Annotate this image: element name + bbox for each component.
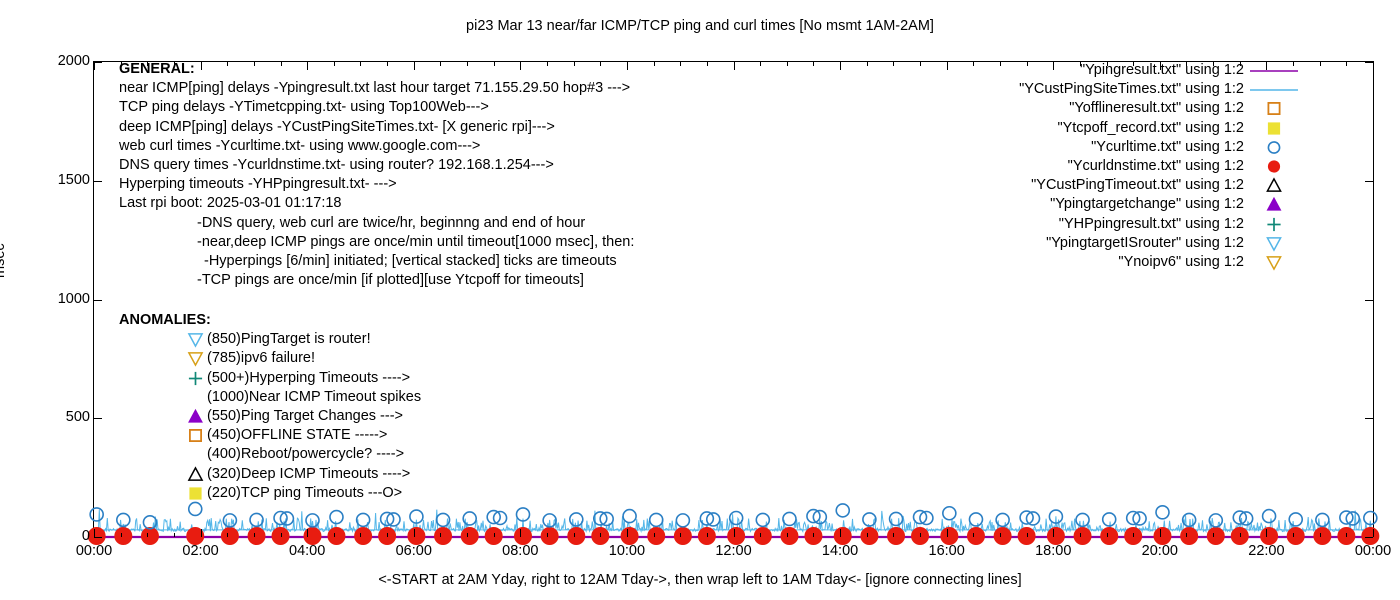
data-point-dns — [1101, 528, 1118, 545]
y-tick — [1365, 181, 1373, 182]
data-point-dns — [435, 528, 452, 545]
y-tick — [94, 62, 102, 63]
anomaly-filled-square-icon — [187, 485, 204, 502]
data-point-dns — [514, 528, 531, 545]
data-point-dns — [1074, 528, 1091, 545]
legend-filled-triangle-up-icon — [1248, 196, 1300, 213]
x-tick — [1373, 529, 1374, 537]
data-point-dns — [1047, 528, 1064, 545]
x-tick — [227, 533, 228, 537]
legend-label: "Ycurldnstime.txt" using 1:2 — [1068, 158, 1244, 174]
x-tick — [707, 533, 708, 537]
anomaly-marker-none — [187, 389, 204, 406]
data-point-curl — [1209, 514, 1222, 527]
anomaly-item: (785)ipv6 failure! — [119, 349, 421, 368]
legend-label: "Ypingresult.txt" using 1:2 — [1080, 62, 1244, 78]
x-tick — [1240, 533, 1241, 537]
data-point-dns — [141, 528, 158, 545]
legend-label: "Ycurltime.txt" using 1:2 — [1091, 139, 1244, 155]
x-tick — [707, 62, 708, 66]
x-tick — [147, 533, 148, 537]
data-point-curl — [943, 507, 956, 520]
x-tick — [1160, 529, 1161, 537]
data-point-dns — [967, 528, 984, 545]
x-tick — [281, 533, 282, 537]
general-indented-line: -DNS query, web curl are twice/hr, begin… — [119, 214, 634, 233]
legend-label: "YHPpingresult.txt" using 1:2 — [1059, 216, 1244, 232]
x-tick-label: 10:00 — [587, 543, 667, 559]
x-tick-label: 18:00 — [1013, 543, 1093, 559]
legend-plus-icon — [1248, 216, 1300, 233]
x-tick — [254, 533, 255, 537]
x-tick — [840, 62, 841, 70]
legend-item: "YCustPingTimeout.txt" using 1:2 — [960, 176, 1300, 195]
legend-label: "Yofflineresult.txt" using 1:2 — [1069, 100, 1244, 116]
general-indented-line: -TCP pings are once/min [if plotted][use… — [119, 271, 634, 290]
data-point-curl — [330, 511, 343, 524]
x-tick — [920, 533, 921, 537]
x-tick — [94, 529, 95, 537]
data-point-curl — [1076, 513, 1089, 526]
legend-label: "YCustPingSiteTimes.txt" using 1:2 — [1019, 81, 1244, 97]
data-point-dns — [674, 528, 691, 545]
x-tick — [307, 529, 308, 537]
x-tick — [387, 533, 388, 537]
data-point-curl — [357, 513, 370, 526]
anomaly-marker-none — [187, 446, 204, 463]
data-point-dns — [1261, 528, 1278, 545]
anomaly-item: (400)Reboot/powercycle? ----> — [119, 445, 421, 464]
x-tick — [1080, 533, 1081, 537]
anomaly-open-triangle-down-icon — [187, 350, 204, 367]
data-point-dns — [728, 528, 745, 545]
general-heading: GENERAL: — [119, 60, 634, 79]
anomaly-item: (450)OFFLINE STATE -----> — [119, 426, 421, 445]
y-tick-label: 1000 — [10, 291, 90, 307]
x-tick — [1346, 533, 1347, 537]
legend-item: "Ypingtargetchange" using 1:2 — [960, 195, 1300, 214]
legend-item: "Ycurldnstime.txt" using 1:2 — [960, 157, 1300, 176]
anomaly-label: (1000)Near ICMP Timeout spikes — [207, 389, 421, 405]
anomaly-item: (500+)Hyperping Timeouts ----> — [119, 369, 421, 388]
legend-open-circle-icon — [1248, 139, 1300, 156]
data-point-curl — [1289, 513, 1302, 526]
anomaly-open-square-icon — [187, 427, 204, 444]
anomaly-plus-icon — [187, 370, 204, 387]
x-tick — [947, 62, 948, 70]
data-point-curl — [783, 512, 796, 525]
legend-item: "YCustPingSiteTimes.txt" using 1:2 — [960, 80, 1300, 99]
anomaly-label: (550)Ping Target Changes ---> — [207, 408, 403, 424]
x-tick-label: 12:00 — [694, 543, 774, 559]
x-tick — [867, 533, 868, 537]
data-point-curl — [570, 513, 583, 526]
x-tick — [813, 533, 814, 537]
x-tick — [440, 533, 441, 537]
x-tick — [973, 533, 974, 537]
data-point-curl — [969, 513, 982, 526]
data-point-curl — [676, 514, 689, 527]
x-tick — [734, 529, 735, 537]
legend-filled-circle-icon — [1248, 158, 1300, 175]
x-tick — [947, 529, 948, 537]
anomaly-item: (320)Deep ICMP Timeouts ----> — [119, 465, 421, 484]
anomaly-label: (500+)Hyperping Timeouts ----> — [207, 370, 410, 386]
x-tick — [920, 62, 921, 66]
legend-item: "Ynoipv6" using 1:2 — [960, 253, 1300, 272]
data-point-dns — [861, 528, 878, 545]
y-tick — [94, 418, 102, 419]
anomaly-open-triangle-down-icon — [187, 331, 204, 348]
data-point-dns — [1287, 528, 1304, 545]
x-tick — [1053, 529, 1054, 537]
x-tick — [1000, 533, 1001, 537]
x-tick — [867, 62, 868, 66]
data-point-dns — [1181, 528, 1198, 545]
anomaly-open-triangle-up-icon — [187, 466, 204, 483]
data-point-dns — [888, 528, 905, 545]
anomalies-heading: ANOMALIES: — [119, 311, 421, 330]
x-tick — [1373, 62, 1374, 70]
general-line: Hyperping timeouts -YHPpingresult.txt- -… — [119, 175, 634, 194]
y-tick-label: 1500 — [10, 172, 90, 188]
x-axis-caption: <-START at 2AM Yday, right to 12AM Tday-… — [0, 572, 1400, 588]
data-point-curl — [756, 513, 769, 526]
data-point-curl — [1316, 513, 1329, 526]
x-tick — [121, 533, 122, 537]
y-tick-label: 500 — [10, 409, 90, 425]
anomaly-label: (320)Deep ICMP Timeouts ----> — [207, 466, 410, 482]
data-point-curl — [1103, 513, 1116, 526]
data-point-dns — [221, 528, 238, 545]
x-tick — [680, 533, 681, 537]
x-tick — [813, 62, 814, 66]
data-point-curl — [250, 513, 263, 526]
data-point-dns — [408, 528, 425, 545]
data-point-curl — [1263, 510, 1276, 523]
anomaly-label: (785)ipv6 failure! — [207, 350, 315, 366]
x-tick — [734, 62, 735, 70]
legend-filled-square-icon — [1248, 120, 1300, 137]
y-tick — [94, 181, 102, 182]
general-line: Last rpi boot: 2025-03-01 01:17:18 — [119, 194, 634, 213]
data-point-curl — [463, 512, 476, 525]
y-tick — [94, 537, 102, 538]
x-tick — [520, 529, 521, 537]
y-tick — [94, 300, 102, 301]
data-point-curl — [836, 504, 849, 517]
general-line: TCP ping delays -YTimetcpping.txt- using… — [119, 98, 634, 117]
x-tick-label: 08:00 — [480, 543, 560, 559]
legend-item: "Yofflineresult.txt" using 1:2 — [960, 99, 1300, 118]
legend-item: "Ypingresult.txt" using 1:2 — [960, 61, 1300, 80]
data-point-dns — [781, 528, 798, 545]
x-tick — [654, 533, 655, 537]
data-point-curl — [996, 513, 1009, 526]
x-tick — [760, 533, 761, 537]
legend-item: "Ytcpoff_record.txt" using 1:2 — [960, 119, 1300, 138]
x-tick-label: 00:00 — [54, 543, 134, 559]
general-line: DNS query times -Ycurldnstime.txt- using… — [119, 156, 634, 175]
data-point-dns — [754, 528, 771, 545]
data-point-dns — [568, 528, 585, 545]
legend-item: "YHPpingresult.txt" using 1:2 — [960, 215, 1300, 234]
x-tick — [654, 62, 655, 66]
data-point-curl — [1156, 506, 1169, 519]
x-tick — [1346, 62, 1347, 66]
x-tick — [1027, 533, 1028, 537]
general-notes-block: GENERAL: near ICMP[ping] delays -Ypingre… — [119, 60, 634, 290]
x-tick — [627, 529, 628, 537]
anomaly-item: (220)TCP ping Timeouts ---O> — [119, 484, 421, 503]
data-point-curl — [90, 508, 103, 521]
x-tick — [494, 533, 495, 537]
general-line: web curl times -Ycurltime.txt- using www… — [119, 137, 634, 156]
data-point-dns — [541, 528, 558, 545]
legend-open-triangle-down-icon — [1248, 254, 1300, 271]
x-tick-label: 14:00 — [800, 543, 880, 559]
x-tick — [1213, 533, 1214, 537]
y-tick — [1365, 537, 1373, 538]
data-point-curl — [650, 513, 663, 526]
x-tick-label: 04:00 — [267, 543, 347, 559]
x-tick — [1266, 529, 1267, 537]
general-line: deep ICMP[ping] delays -YCustPingSiteTim… — [119, 118, 634, 137]
x-tick — [414, 529, 415, 537]
legend-label: "Ytcpoff_record.txt" using 1:2 — [1057, 120, 1244, 136]
legend-line-sample — [1248, 81, 1300, 98]
general-indented-line: -Hyperpings [6/min] initiated; [vertical… — [119, 252, 634, 271]
data-point-dns — [328, 528, 345, 545]
anomaly-item: (850)PingTarget is router! — [119, 330, 421, 349]
data-point-dns — [1154, 528, 1171, 545]
x-tick-label: 22:00 — [1226, 543, 1306, 559]
data-point-dns — [248, 528, 265, 545]
anomaly-label: (220)TCP ping Timeouts ---O> — [207, 485, 402, 501]
data-point-curl — [189, 502, 202, 515]
x-tick — [760, 62, 761, 66]
chart-legend: "Ypingresult.txt" using 1:2"YCustPingSit… — [960, 61, 1300, 272]
data-point-dns — [994, 528, 1011, 545]
legend-open-square-icon — [1248, 100, 1300, 117]
data-point-dns — [941, 528, 958, 545]
x-tick — [574, 533, 575, 537]
x-tick — [547, 533, 548, 537]
x-tick — [334, 533, 335, 537]
x-tick — [787, 62, 788, 66]
chart-page: pi23 Mar 13 near/far ICMP/TCP ping and c… — [0, 0, 1400, 600]
x-tick — [840, 529, 841, 537]
x-tick — [360, 533, 361, 537]
x-tick-label: 02:00 — [161, 543, 241, 559]
legend-open-triangle-down-icon — [1248, 235, 1300, 252]
x-tick — [1107, 533, 1108, 537]
x-tick — [787, 533, 788, 537]
legend-label: "Ynoipv6" using 1:2 — [1118, 254, 1244, 270]
y-tick — [1365, 62, 1373, 63]
legend-label: "YCustPingTimeout.txt" using 1:2 — [1031, 177, 1244, 193]
legend-open-triangle-up-icon — [1248, 177, 1300, 194]
data-point-dns — [355, 528, 372, 545]
legend-label: "Ypingtargetchange" using 1:2 — [1050, 196, 1244, 212]
legend-label: "YpingtargetISrouter" using 1:2 — [1046, 235, 1244, 251]
data-point-dns — [648, 528, 665, 545]
x-tick — [94, 62, 95, 70]
x-tick-label: 06:00 — [374, 543, 454, 559]
y-tick-label: 0 — [10, 528, 90, 544]
data-point-curl — [623, 510, 636, 523]
y-axis-title: msec — [0, 243, 8, 278]
data-point-dns — [115, 528, 132, 545]
x-tick — [201, 529, 202, 537]
x-tick — [1320, 62, 1321, 66]
anomaly-label: (450)OFFLINE STATE -----> — [207, 427, 387, 443]
data-point-curl — [223, 514, 236, 527]
general-indented-line: -near,deep ICMP pings are once/min until… — [119, 233, 634, 252]
data-point-dns — [1207, 528, 1224, 545]
anomalies-list: (850)PingTarget is router!(785)ipv6 fail… — [119, 330, 421, 503]
data-point-dns — [1314, 528, 1331, 545]
legend-item: "Ycurltime.txt" using 1:2 — [960, 138, 1300, 157]
x-tick-label: 00:00 — [1333, 543, 1400, 559]
legend-line-sample — [1248, 62, 1300, 79]
x-tick — [1320, 533, 1321, 537]
x-tick-label: 16:00 — [907, 543, 987, 559]
x-tick — [893, 62, 894, 66]
x-tick — [1133, 533, 1134, 537]
x-tick — [600, 533, 601, 537]
anomaly-filled-triangle-up-icon — [187, 408, 204, 425]
anomaly-item: (550)Ping Target Changes ---> — [119, 407, 421, 426]
general-line: near ICMP[ping] delays -Ypingresult.txt … — [119, 79, 634, 98]
legend-item: "YpingtargetISrouter" using 1:2 — [960, 234, 1300, 253]
x-tick-label: 20:00 — [1120, 543, 1200, 559]
x-tick — [1293, 533, 1294, 537]
anomaly-item: (1000)Near ICMP Timeout spikes — [119, 388, 421, 407]
data-point-dns — [621, 528, 638, 545]
x-tick — [893, 533, 894, 537]
x-tick — [467, 533, 468, 537]
y-tick-label: 2000 — [10, 53, 90, 69]
page-title: pi23 Mar 13 near/far ICMP/TCP ping and c… — [0, 18, 1400, 34]
x-tick — [1186, 533, 1187, 537]
anomaly-label: (850)PingTarget is router! — [207, 331, 371, 347]
x-tick — [174, 533, 175, 537]
data-point-dns — [461, 528, 478, 545]
x-tick — [680, 62, 681, 66]
data-point-dns — [834, 528, 851, 545]
y-tick — [1365, 418, 1373, 419]
y-tick — [1365, 300, 1373, 301]
general-lines: near ICMP[ping] delays -Ypingresult.txt … — [119, 79, 634, 213]
anomalies-block: ANOMALIES: (850)PingTarget is router!(78… — [119, 311, 421, 503]
general-indented-lines: -DNS query, web curl are twice/hr, begin… — [119, 214, 634, 291]
data-point-curl — [730, 512, 743, 525]
anomaly-label: (400)Reboot/powercycle? ----> — [207, 446, 404, 462]
